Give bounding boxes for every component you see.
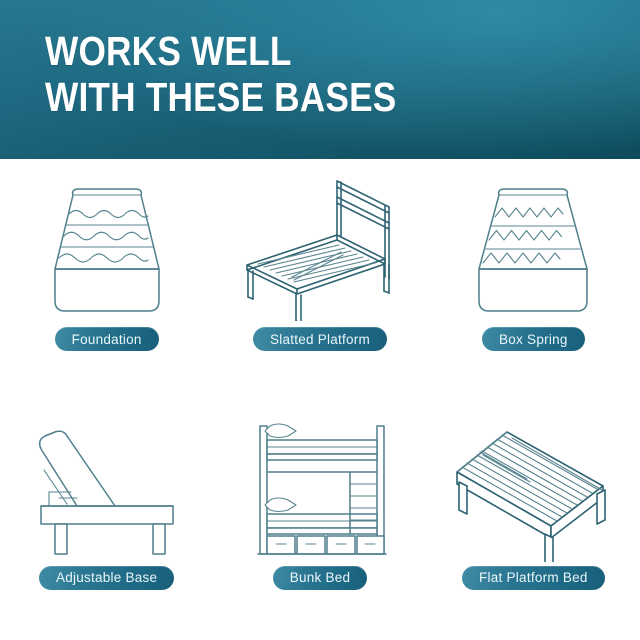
base-label-box-spring: Box Spring (482, 327, 585, 351)
base-card-foundation[interactable]: Foundation (0, 159, 213, 400)
base-label-adjustable-base: Adjustable Base (39, 566, 174, 590)
base-label-foundation: Foundation (55, 327, 159, 351)
base-card-bunk-bed[interactable]: Bunk Bed (213, 400, 426, 640)
base-card-box-spring[interactable]: Box Spring (427, 159, 640, 400)
base-card-slatted-platform[interactable]: Slatted Platform (213, 159, 426, 400)
base-label-slatted-platform: Slatted Platform (253, 327, 387, 351)
adjustable-base-icon (18, 414, 196, 562)
works-well-with-these-bases-card: WORKS WELL WITH THESE BASES (0, 0, 640, 640)
base-card-flat-platform-bed[interactable]: Flat Platform Bed (427, 400, 640, 640)
base-label-bunk-bed: Bunk Bed (273, 566, 368, 590)
base-label-flat-platform-bed: Flat Platform Bed (462, 566, 605, 590)
foundation-mattress-icon (18, 173, 196, 321)
box-spring-icon (444, 173, 622, 321)
slatted-platform-bed-icon (231, 173, 409, 321)
base-card-adjustable-base[interactable]: Adjustable Base (0, 400, 213, 640)
header-banner: WORKS WELL WITH THESE BASES (0, 0, 640, 159)
flat-platform-bed-icon (444, 414, 622, 562)
bunk-bed-icon (231, 414, 409, 562)
bases-grid: Foundation (0, 159, 640, 640)
page-title: WORKS WELL WITH THESE BASES (45, 28, 527, 120)
